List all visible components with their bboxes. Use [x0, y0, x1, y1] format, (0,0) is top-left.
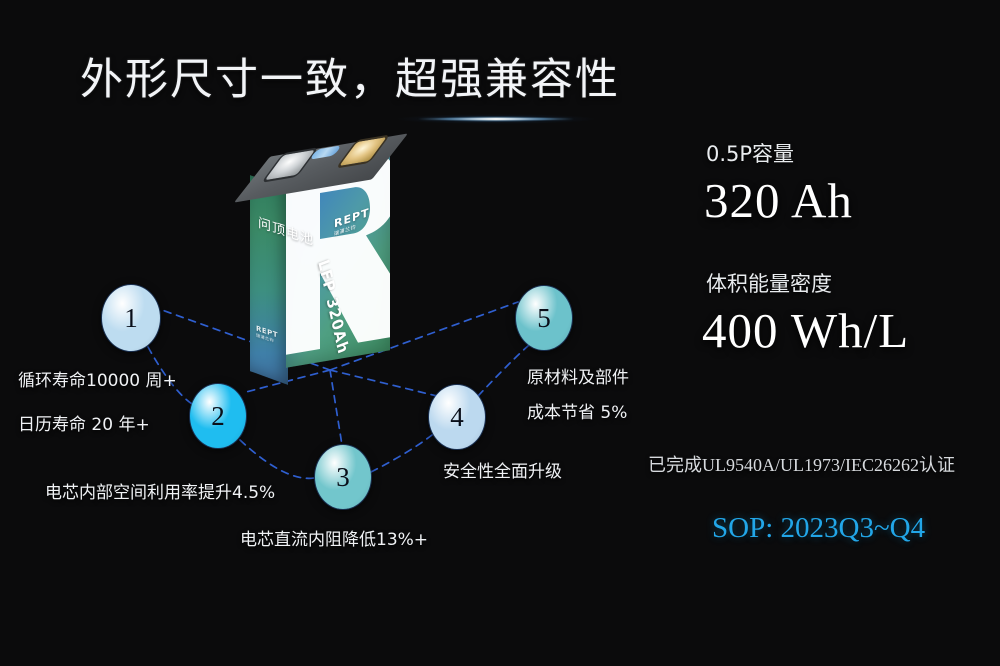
capacity-value: 320 Ah — [704, 172, 853, 229]
feature-caption: 成本节省 5% — [527, 398, 627, 423]
energy-density-label: 体积能量密度 — [706, 268, 832, 298]
sop-schedule-text: SOP: 2023Q3~Q4 — [712, 512, 925, 545]
battery-cell-illustration: REPT 瑞浦兰钧 LFP 320Ah 问顶电池 REPT 瑞浦兰钧 — [250, 142, 430, 372]
page-title: 外形尺寸一致，超强兼容性 — [0, 45, 700, 107]
feature-bubble-1[interactable]: 1 — [102, 285, 160, 351]
energy-density-value: 400 Wh/L — [702, 302, 909, 359]
feature-caption: 原材料及部件 — [527, 363, 629, 388]
feature-bubble-2[interactable]: 2 — [190, 384, 246, 448]
battery-side-face — [250, 175, 288, 385]
feature-caption: 安全性全面升级 — [443, 457, 562, 482]
feature-bubble-3[interactable]: 3 — [315, 445, 371, 509]
feature-caption: 电芯内部空间利用率提升4.5% — [45, 478, 275, 503]
feature-caption: 循环寿命10000 周+ — [18, 366, 177, 391]
certification-text: 已完成UL9540A/UL1973/IEC26262认证 — [648, 451, 955, 477]
feature-bubble-4[interactable]: 4 — [429, 385, 485, 449]
feature-caption: 日历寿命 20 年+ — [18, 410, 150, 435]
capacity-label: 0.5P容量 — [706, 138, 794, 168]
slide-canvas: 外形尺寸一致，超强兼容性 REPT 瑞浦兰钧 L — [0, 0, 1000, 666]
title-divider-glow — [396, 114, 596, 124]
feature-bubble-5[interactable]: 5 — [516, 286, 572, 350]
feature-caption: 电芯直流内阻降低13%+ — [240, 525, 428, 550]
